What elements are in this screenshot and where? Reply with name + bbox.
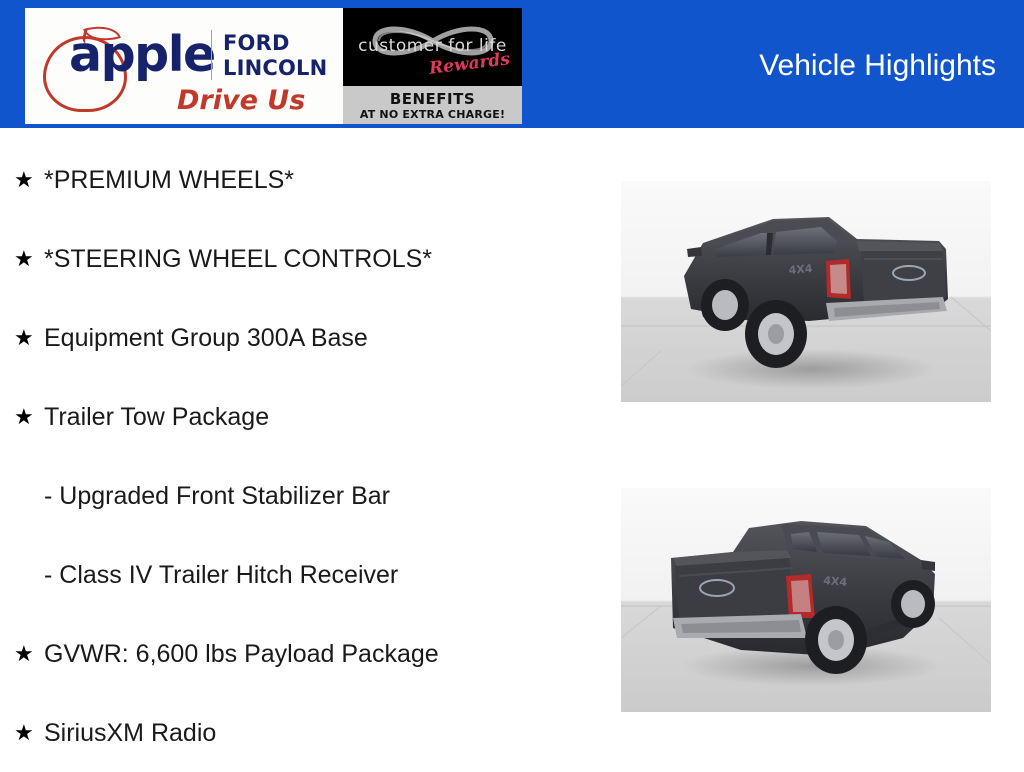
- vehicle-photo-rear-driver-side: 4X4: [621, 181, 991, 402]
- vehicle-photo-rear-passenger-side: 4X4: [621, 488, 991, 712]
- list-sub-item-label: - Upgraded Front Stabilizer Bar: [44, 481, 390, 511]
- customer-for-life-badge: customer for life Rewards BENEFITS AT NO…: [343, 8, 522, 124]
- star-bullet-icon: ★: [14, 643, 34, 665]
- list-item: ★ *PREMIUM WHEELS*: [0, 140, 600, 219]
- list-item: ★ *STEERING WHEEL CONTROLS*: [0, 219, 600, 298]
- apple-ford-lincoln-logo: apple FORD LINCOLN Drive Us: [25, 8, 343, 124]
- page-header: apple FORD LINCOLN Drive Us customer for…: [0, 0, 1024, 128]
- list-item: ★ Trailer Tow Package: [0, 377, 600, 456]
- dealer-name: apple: [69, 30, 215, 79]
- list-item-label: *PREMIUM WHEELS*: [44, 165, 294, 195]
- list-item-label: Trailer Tow Package: [44, 402, 269, 432]
- badge-benefits-subtitle: AT NO EXTRA CHARGE!: [343, 108, 522, 121]
- badge-benefits-title: BENEFITS: [343, 90, 522, 108]
- list-sub-item: - Class IV Trailer Hitch Receiver: [0, 535, 600, 614]
- svg-text:4X4: 4X4: [788, 262, 813, 277]
- star-bullet-icon: ★: [14, 169, 34, 191]
- star-bullet-icon: ★: [14, 248, 34, 270]
- list-item: ★ Equipment Group 300A Base: [0, 298, 600, 377]
- svg-text:4X4: 4X4: [823, 574, 848, 589]
- brand-names: FORD LINCOLN: [223, 31, 327, 81]
- vehicle-highlights-list: ★ *PREMIUM WHEELS* ★ *STEERING WHEEL CON…: [0, 140, 600, 772]
- list-item-label: GVWR: 6,600 lbs Payload Package: [44, 639, 439, 669]
- badge-bottom-panel: BENEFITS AT NO EXTRA CHARGE!: [343, 86, 522, 124]
- star-bullet-icon: ★: [14, 722, 34, 744]
- list-sub-item-label: - Class IV Trailer Hitch Receiver: [44, 560, 398, 590]
- dealer-logo-block: apple FORD LINCOLN Drive Us customer for…: [25, 8, 522, 124]
- star-bullet-icon: ★: [14, 406, 34, 428]
- list-item-label: SiriusXM Radio: [44, 718, 216, 748]
- list-sub-item: - Upgraded Front Stabilizer Bar: [0, 456, 600, 535]
- badge-top-panel: customer for life Rewards: [343, 8, 522, 86]
- page-title: Vehicle Highlights: [759, 49, 996, 83]
- logo-divider: [211, 30, 212, 80]
- brand-ford: FORD: [223, 31, 327, 56]
- star-bullet-icon: ★: [14, 327, 34, 349]
- list-item-label: Equipment Group 300A Base: [44, 323, 368, 353]
- list-item: ★ GVWR: 6,600 lbs Payload Package: [0, 614, 600, 693]
- list-item-label: *STEERING WHEEL CONTROLS*: [44, 244, 432, 274]
- dealer-tagline: Drive Us: [177, 87, 305, 114]
- brand-lincoln: LINCOLN: [223, 56, 327, 81]
- list-item: ★ SiriusXM Radio: [0, 693, 600, 772]
